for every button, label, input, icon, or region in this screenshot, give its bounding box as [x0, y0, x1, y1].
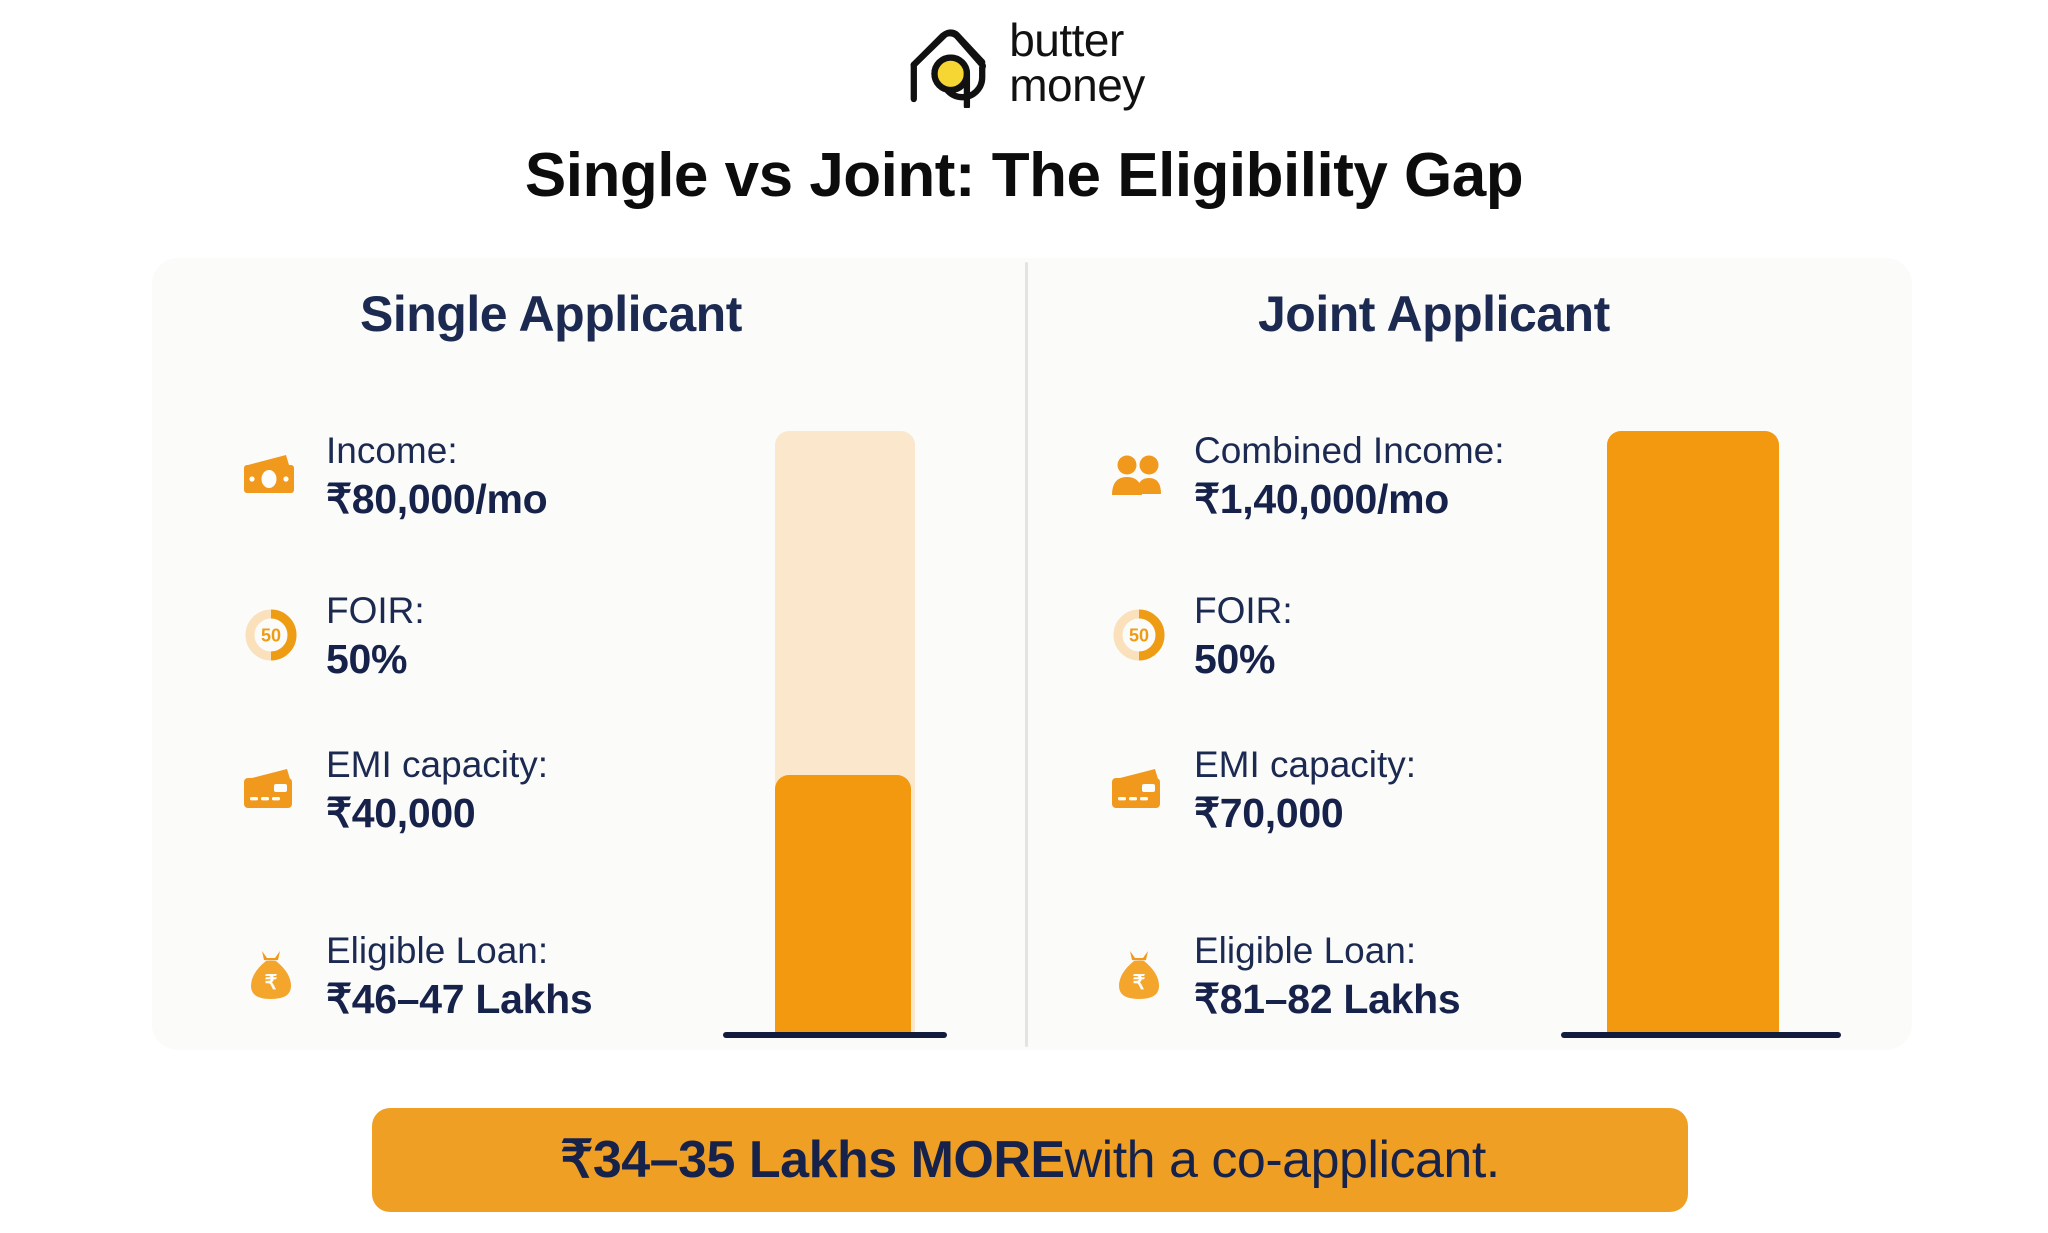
- summary-banner-text: with a co-applicant.: [1065, 1130, 1500, 1190]
- column-heading-joint: Joint Applicant: [1258, 285, 1610, 343]
- metric-row-eligible-loan-single: ₹ Eligible Loan: ₹46–47 Lakhs: [240, 928, 592, 1024]
- bar-baseline-single: [723, 1032, 947, 1038]
- bar-single-fill: [775, 775, 911, 1034]
- metric-row-foir-joint: 50 FOIR: 50%: [1108, 588, 1293, 684]
- metric-row-emi-single: EMI capacity: ₹40,000: [240, 742, 548, 838]
- credit-card-icon: [240, 758, 302, 820]
- page-title: Single vs Joint: The Eligibility Gap: [0, 140, 2048, 211]
- foir-donut-icon: 50: [1108, 604, 1170, 666]
- foir-donut-icon: 50: [240, 604, 302, 666]
- house-pin-logo-icon: [903, 18, 993, 108]
- foir-donut-text: 50: [1129, 626, 1149, 646]
- summary-banner-highlight: ₹34–35 Lakhs MORE: [560, 1130, 1064, 1190]
- summary-banner: ₹34–35 Lakhs MORE with a co-applicant.: [372, 1108, 1688, 1212]
- metric-value: ₹40,000: [326, 788, 548, 838]
- metric-value: ₹70,000: [1194, 788, 1416, 838]
- metric-value: 50%: [326, 634, 425, 684]
- metric-value: ₹80,000/mo: [326, 474, 547, 524]
- brand-wordmark: butter money: [1009, 18, 1145, 108]
- metric-value: ₹1,40,000/mo: [1194, 474, 1505, 524]
- banknote-icon: [240, 444, 302, 506]
- metric-row-combined-income-joint: Combined Income: ₹1,40,000/mo: [1108, 428, 1505, 524]
- svg-text:₹: ₹: [1133, 972, 1146, 994]
- metric-row-income-single: Income: ₹80,000/mo: [240, 428, 547, 524]
- metric-label: FOIR:: [1194, 588, 1293, 634]
- bar-joint-fill: [1607, 431, 1779, 1034]
- two-people-icon: [1108, 444, 1170, 506]
- metric-label: Combined Income:: [1194, 428, 1505, 474]
- metric-label: Eligible Loan:: [1194, 928, 1460, 974]
- column-divider: [1025, 262, 1028, 1047]
- metric-label: EMI capacity:: [326, 742, 548, 788]
- metric-row-foir-single: 50 FOIR: 50%: [240, 588, 425, 684]
- bar-baseline-joint: [1561, 1032, 1841, 1038]
- metric-value: 50%: [1194, 634, 1293, 684]
- credit-card-icon: [1108, 758, 1170, 820]
- foir-donut-text: 50: [261, 626, 281, 646]
- brand-name-line1: butter: [1009, 18, 1145, 63]
- column-heading-single: Single Applicant: [360, 285, 742, 343]
- metric-label: Income:: [326, 428, 547, 474]
- metric-value: ₹46–47 Lakhs: [326, 974, 592, 1024]
- svg-text:₹: ₹: [265, 972, 278, 994]
- metric-row-eligible-loan-joint: ₹ Eligible Loan: ₹81–82 Lakhs: [1108, 928, 1460, 1024]
- brand-name-line2: money: [1009, 63, 1145, 108]
- metric-label: Eligible Loan:: [326, 928, 592, 974]
- money-bag-icon: ₹: [1108, 944, 1170, 1006]
- metric-label: FOIR:: [326, 588, 425, 634]
- metric-row-emi-joint: EMI capacity: ₹70,000: [1108, 742, 1416, 838]
- metric-label: EMI capacity:: [1194, 742, 1416, 788]
- brand-logo: butter money: [0, 18, 2048, 108]
- money-bag-icon: ₹: [240, 944, 302, 1006]
- metric-value: ₹81–82 Lakhs: [1194, 974, 1460, 1024]
